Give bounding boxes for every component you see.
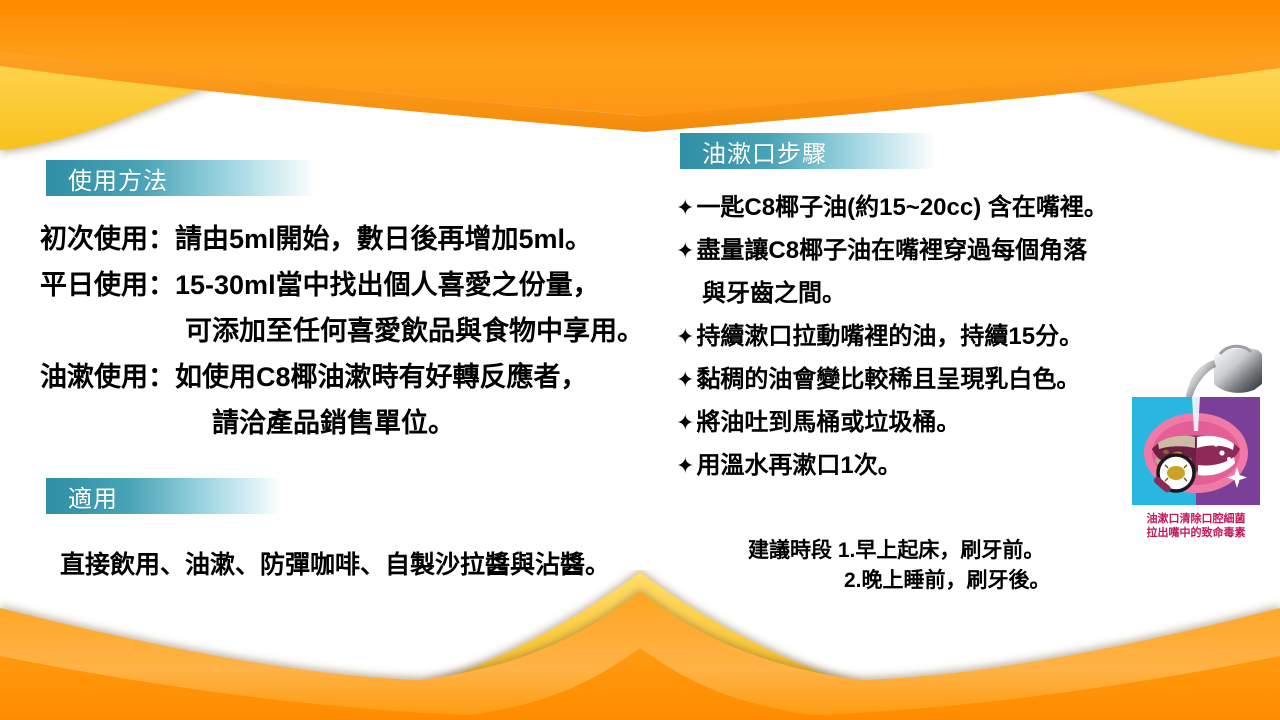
step-item-label: 盡量讓C8椰子油在嘴裡穿過每個角落 (696, 229, 1087, 272)
steps-list: ✦ 一匙C8椰子油(約15~20cc) 含在嘴裡。 ✦ 盡量讓C8椰子油在嘴裡穿… (676, 186, 1176, 487)
step-item-label: 用溫水再漱口1次。 (696, 444, 901, 487)
step-item: ✦ 用溫水再漱口1次。 (676, 444, 1176, 487)
recommended-timing-block: 建議時段 1.早上起床，刷牙前。 2.晚上睡前，刷牙後。 (748, 536, 1051, 596)
slide-canvas: 使用方法 初次使用：請由5ml開始，數日後再增加5ml。 平日使用：15-30m… (0, 0, 1280, 720)
step-item: ✦ 黏稠的油會變比較稀且呈現乳白色。 (676, 358, 1176, 401)
step-item-label: 持續漱口拉動嘴裡的油，持續15分。 (696, 315, 1083, 358)
section-header-suitable: 適用 (46, 478, 282, 514)
step-item-label: 與牙齒之間。 (702, 272, 846, 315)
illustration-caption-line-2: 拉出嘴中的致命毒素 (1130, 526, 1262, 540)
diamond-bullet-icon: ✦ (676, 369, 694, 391)
section-header-usage-label: 使用方法 (46, 161, 168, 196)
diamond-bullet-icon: ✦ (676, 240, 694, 262)
timing-line-2: 2.晚上睡前，刷牙後。 (748, 566, 1051, 596)
step-item-label: 一匙C8椰子油(約15~20cc) 含在嘴裡。 (696, 186, 1107, 229)
diamond-bullet-icon: ✦ (676, 326, 694, 348)
oil-pulling-illustration: 油漱口清除口腔細菌 拉出嘴中的致命毒素 (1130, 340, 1262, 555)
usage-line: 油漱使用：如使用C8椰油漱時有好轉反應者， (40, 354, 660, 400)
section-header-steps-label: 油漱口步驟 (680, 134, 827, 169)
timing-line-1: 建議時段 1.早上起床，刷牙前。 (748, 536, 1051, 566)
bottom-wave-decoration (0, 570, 1280, 720)
section-header-suitable-label: 適用 (46, 479, 118, 514)
step-item: ✦ 持續漱口拉動嘴裡的油，持續15分。 (676, 315, 1176, 358)
diamond-bullet-icon: ✦ (676, 412, 694, 434)
illustration-caption-line-1: 油漱口清除口腔細菌 (1130, 512, 1262, 526)
top-wave-decoration (0, 0, 1280, 160)
step-item-label: 黏稠的油會變比較稀且呈現乳白色。 (696, 358, 1080, 401)
step-item-label: 將油吐到馬桶或垃圾桶。 (696, 401, 960, 444)
diamond-bullet-icon: ✦ (676, 197, 694, 219)
usage-line: 初次使用：請由5ml開始，數日後再增加5ml。 (40, 216, 660, 262)
usage-text-block: 初次使用：請由5ml開始，數日後再增加5ml。 平日使用：15-30ml當中找出… (40, 216, 660, 446)
step-item: ✦ 盡量讓C8椰子油在嘴裡穿過每個角落 (676, 229, 1176, 272)
mouth-bacteria-picture (1132, 397, 1260, 505)
usage-line: 可添加至任何喜愛飲品與食物中享用。 (40, 308, 660, 354)
section-header-usage: 使用方法 (46, 160, 316, 196)
illustration-caption: 油漱口清除口腔細菌 拉出嘴中的致命毒素 (1130, 512, 1262, 540)
section-header-steps: 油漱口步驟 (680, 133, 936, 169)
diamond-bullet-icon: ✦ (676, 455, 694, 477)
step-item-continuation: 與牙齒之間。 (676, 272, 1176, 315)
usage-line: 平日使用：15-30ml當中找出個人喜愛之份量， (40, 262, 660, 308)
mouth-graphic (1132, 397, 1260, 505)
step-item: ✦ 一匙C8椰子油(約15~20cc) 含在嘴裡。 (676, 186, 1176, 229)
step-item: ✦ 將油吐到馬桶或垃圾桶。 (676, 401, 1176, 444)
suitable-text: 直接飲用、油漱、防彈咖啡、自製沙拉醬與沾醬。 (60, 545, 610, 581)
usage-line: 請洽產品銷售單位。 (40, 400, 660, 446)
